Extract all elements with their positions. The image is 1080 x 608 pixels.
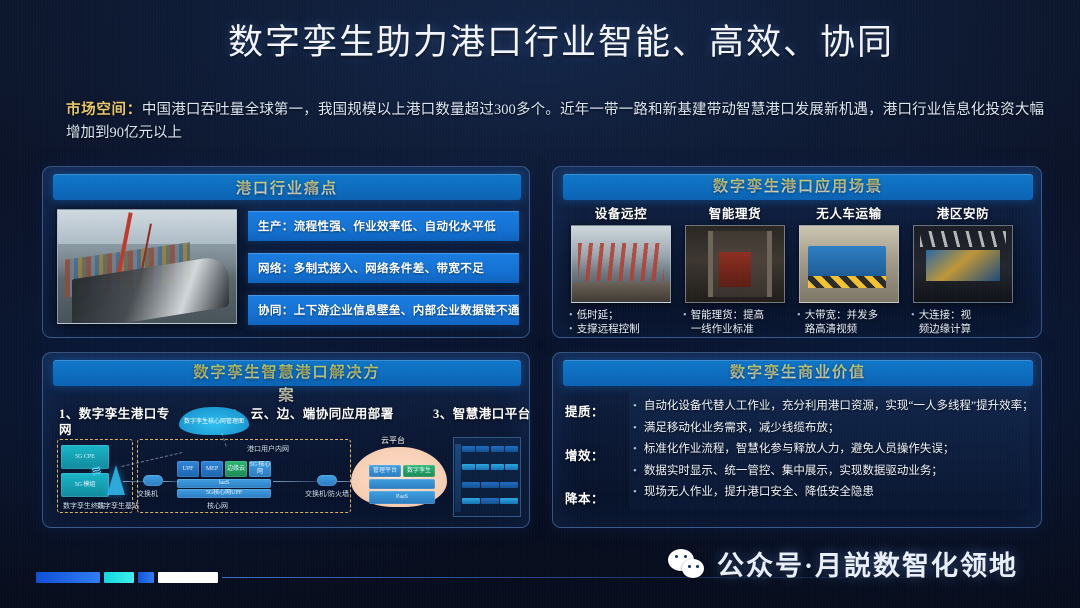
value-item-text-4: 现场无人作业，提升港口安全、降低安全隐患	[644, 482, 874, 504]
bullet-dot-icon: •	[633, 396, 637, 418]
market-space-paragraph: 市场空间：中国港口吞吐量全球第一，我国规模以上港口数量超过300多个。近年一带一…	[66, 99, 1044, 146]
value-item: • 数据实时显示、统一管控、集中展示，实现数据驱动业务；	[633, 461, 1021, 483]
core-tile-upf: UPF	[177, 461, 199, 477]
scene-image-0	[571, 225, 671, 303]
market-space-label: 市场空间：	[66, 102, 142, 118]
cloud-tile-digital-twin: 数字孪生	[403, 465, 435, 477]
panel-value-title: 数字孪生商业价值	[698, 362, 898, 385]
platform-ui-cell	[500, 498, 518, 504]
scene-bullet-text-2-0: 大带宽：并发多	[805, 309, 901, 323]
value-item-text-2: 标准化作业流程，智慧化参与释放人力，避免人员操作失误；	[644, 439, 955, 461]
pain-bar-collaboration-text: 协同：上下游企业信息壁垒、内部企业数据链不通	[258, 302, 520, 318]
platform-ui-sidebar	[455, 444, 461, 512]
core-tile-mep: MEP	[201, 461, 223, 477]
photo-sky	[58, 210, 236, 244]
scene-bullet-text-1-0: 智能理货：提高	[691, 309, 787, 323]
scene-column-remote-control: 设备远控 • 低时延； • 支撑远程控制	[567, 203, 675, 337]
core-tile-edge-cloud-label: 边缘云	[227, 466, 245, 473]
platform-ui-cell	[500, 482, 518, 488]
solution-step-3: 3、智慧港口平台	[433, 407, 530, 423]
panel-value-header: 数字孪生商业价值	[563, 360, 1033, 386]
pain-bar-production-text: 生产：流程性强、作业效率低、自动化水平低	[258, 218, 496, 234]
terminal-tile-cpe: 5G CPE	[61, 445, 109, 469]
terminal-tile-module-label: 5G 模组	[75, 482, 96, 489]
panel-solution-header: 数字孪生智慧港口解决方案	[53, 360, 521, 386]
platform-ui-row-4	[462, 498, 518, 504]
port-terminal-photo	[57, 209, 237, 324]
pain-bar-network: 网络：多制式接入、网络条件差、带宽不足	[248, 253, 519, 283]
panel-scene-title: 数字孪生港口应用场景	[698, 176, 898, 199]
solution-architecture-diagram: 数字孪生核心网管理面 5G CPE 5G 模组 数字孪生终端 ≋ 数字孪生基站 …	[51, 435, 523, 521]
panel-pain-header: 港口行业痛点	[53, 174, 521, 200]
scene-caption-1: 智能理货	[681, 203, 789, 222]
value-item-text-1: 满足移动化业务需求，减少线缆布放；	[644, 418, 840, 440]
scene-bullet-1-0: • 智能理货：提高	[683, 309, 787, 323]
core-network-cloud-icon: 数字孪生核心网管理面	[179, 407, 249, 435]
scene-bullets-3: • 大连接：视 • 频边缘计算	[909, 309, 1017, 337]
pain-bar-production: 生产：流程性强、作业效率低、自动化水平低	[248, 211, 519, 241]
panel-industry-pain-points: 港口行业痛点 生产：流程性强、作业效率低、自动化水平低 网络：多制式接入、网络条…	[42, 166, 530, 338]
value-item: • 满足移动化业务需求，减少线缆布放；	[633, 418, 1021, 440]
cloud-tile-paas-label: PaaS	[396, 494, 408, 501]
wechat-watermark: 公众号·月説数智化领地	[668, 544, 1018, 583]
footer-bar-blue-2	[138, 572, 154, 583]
scene-image-1	[685, 225, 785, 303]
switch-icon	[143, 475, 163, 486]
bullet-dot-icon: •	[633, 461, 637, 483]
scene-bullet-0-1: • 支撑远程控制	[569, 323, 673, 337]
core-network-cloud-label: 数字孪生核心网管理面	[184, 419, 244, 425]
wechat-eye	[684, 555, 687, 558]
panel-solution-title: 数字孪生智慧港口解决方案	[187, 362, 387, 408]
value-label-quality: 提质：	[565, 401, 604, 420]
base-station-label: 数字孪生基站	[97, 501, 139, 511]
scene-bullet-text-2-1: 路高清视频	[805, 323, 901, 337]
scene-bullet-text-0-1: 支撑远程控制	[577, 323, 673, 337]
platform-ui-cell	[481, 498, 499, 504]
bullet-dot-icon: •	[797, 309, 801, 323]
wechat-account-name: 公众号·月説数智化领地	[717, 544, 1018, 583]
footer-bar-cyan	[104, 572, 134, 583]
bullet-dot-icon: •	[633, 439, 637, 461]
value-item: • 标准化作业流程，智慧化参与释放人力，避免人员操作失误；	[633, 439, 1021, 461]
value-label-cost: 降本：	[565, 488, 604, 507]
scene-image-2	[799, 225, 899, 303]
bullet-dot-icon: •	[569, 323, 573, 337]
core-row-5gcore-label: 5G核心网UPF	[206, 490, 242, 497]
wechat-icon	[668, 549, 708, 579]
solution-step-1: 1、数字孪生港口专网	[59, 407, 179, 438]
platform-ui-cell	[476, 464, 489, 470]
cloud-tile-mgmt-label: 管理平台	[373, 468, 397, 475]
firewall-label: 交换机/防火墙	[305, 489, 349, 499]
scene-bullets-2: • 大带宽：并发多 • 路高清视频	[795, 309, 903, 337]
scene-column-unmanned-vehicle: 无人车运输 • 大带宽：并发多 • 路高清视频	[795, 203, 903, 337]
port-intranet-label: 港口用户内网	[247, 444, 289, 454]
scene-column-port-security: 港区安防 • 大连接：视 • 频边缘计算	[909, 203, 1017, 337]
scene-bullet-0-0: • 低时延；	[569, 309, 673, 323]
value-label-efficiency: 增效：	[565, 445, 604, 464]
platform-ui-cell	[462, 464, 475, 470]
panel-scene-header: 数字孪生港口应用场景	[563, 174, 1033, 200]
scene-bullet-2-1: • 路高清视频	[797, 323, 901, 337]
firewall-icon	[317, 475, 337, 486]
core-row-5gcore: 5G核心网UPF	[177, 489, 271, 498]
footer-bar-white	[158, 572, 218, 583]
core-tile-upf-label: UPF	[182, 466, 193, 473]
platform-ui-cell	[481, 482, 499, 488]
core-net-label: 核心网	[207, 501, 228, 511]
bullet-dot-icon: •	[633, 418, 637, 440]
link-core-firewall	[273, 481, 317, 482]
value-item: • 现场无人作业，提升港口安全、降低安全隐患	[633, 482, 1021, 504]
solution-step-2: 2、云、边、端协同应用部署	[231, 407, 421, 423]
cloud-tile-paas: PaaS	[369, 491, 435, 504]
cloud-platform-label: 云平台	[381, 435, 405, 446]
panel-smart-port-solution: 数字孪生智慧港口解决方案 1、数字孪生港口专网 2、云、边、端协同应用部署 3、…	[42, 352, 530, 528]
wechat-bubble-small	[682, 559, 704, 578]
cloud-tile-middle	[369, 479, 435, 489]
scene-image-3	[913, 225, 1013, 303]
page-title: 数字孪生助力港口行业智能、高效、协同	[228, 22, 928, 65]
business-value-list: • 自动化设备代替人工作业，充分利用港口资源，实现“一人多线程”提升效率； • …	[629, 391, 1029, 510]
scene-column-smart-tally: 智能理货 • 智能理货：提高 • 一线作业标准	[681, 203, 789, 337]
core-tile-5gc: 5G 核心网	[249, 461, 271, 477]
scene-caption-3: 港区安防	[909, 203, 1017, 222]
bullet-dot-icon: •	[683, 309, 687, 323]
bullet-dot-icon: •	[569, 309, 573, 323]
wechat-eye	[696, 565, 699, 568]
scene-bullet-2-0: • 大带宽：并发多	[797, 309, 901, 323]
panel-business-value: 数字孪生商业价值 提质： 增效： 降本： • 自动化设备代替人工作业，充分利用港…	[552, 352, 1042, 528]
panel-pain-title: 港口行业痛点	[236, 177, 338, 198]
platform-ui-row-3	[462, 482, 518, 488]
pain-bar-network-text: 网络：多制式接入、网络条件差、带宽不足	[258, 260, 484, 276]
platform-ui-row-2	[462, 464, 518, 470]
panel-application-scenes: 数字孪生港口应用场景 设备远控 • 低时延； • 支撑远程控制 智能理货	[552, 166, 1042, 338]
scene-bullet-text-1-1: 一线作业标准	[691, 323, 787, 337]
slide-header: 数字孪生助力港口行业智能、高效、协同 市场空间：中国港口吞吐量全球第一，我国规模…	[0, 0, 1080, 152]
scene-bullet-1-1: • 一线作业标准	[683, 323, 787, 337]
scene-bullets-1: • 智能理货：提高 • 一线作业标准	[681, 309, 789, 337]
scene-caption-0: 设备远控	[567, 203, 675, 222]
core-row-iaas: laaS	[177, 479, 271, 488]
scene-bullet-3-0: • 大连接：视	[911, 309, 1015, 323]
terminal-tile-cpe-label: 5G CPE	[75, 454, 95, 461]
cloud-tile-digital-twin-label: 数字孪生	[407, 468, 431, 475]
scene-caption-2: 无人车运输	[795, 203, 903, 222]
value-item-text-3: 数据实时显示、统一管控、集中展示，实现数据驱动业务；	[644, 461, 943, 483]
pain-bar-collaboration: 协同：上下游企业信息壁垒、内部企业数据链不通	[248, 295, 519, 325]
core-tile-5gc-label: 5G 核心网	[249, 462, 271, 475]
core-tile-mep-label: MEP	[206, 466, 218, 473]
base-station-icon	[107, 465, 125, 495]
core-row-iaas-label: laaS	[219, 480, 229, 487]
platform-ui-cell	[462, 446, 475, 452]
value-item: • 自动化设备代替人工作业，充分利用港口资源，实现“一人多线程”提升效率；	[633, 396, 1021, 418]
platform-ui-cell	[462, 482, 480, 488]
business-value-content: 提质： 增效： 降本： • 自动化设备代替人工作业，充分利用港口资源，实现“一人…	[561, 391, 1035, 523]
link-station-switch	[123, 481, 145, 482]
platform-ui-cell	[491, 464, 504, 470]
wechat-eye	[688, 565, 691, 568]
platform-ui-cell	[505, 446, 518, 452]
market-space-body: 中国港口吞吐量全球第一，我国规模以上港口数量超过300多个。近年一带一路和新基建…	[66, 102, 1044, 141]
scene-bullet-text-3-0: 大连接：视	[919, 309, 1015, 323]
slide-canvas: 数字孪生助力港口行业智能、高效、协同 市场空间：中国港口吞吐量全球第一，我国规模…	[0, 0, 1080, 608]
link-switch-core	[163, 481, 179, 482]
scene-bullet-3-1: • 频边缘计算	[911, 323, 1015, 337]
platform-ui-cell	[476, 446, 489, 452]
cloud-tile-mgmt: 管理平台	[369, 465, 401, 477]
scene-bullet-text-3-1: 频边缘计算	[919, 323, 1015, 337]
core-tile-edge-cloud: 边缘云	[225, 461, 247, 477]
switch-label: 交换机	[137, 489, 158, 499]
wechat-eye	[675, 555, 678, 558]
bullet-dot-icon: •	[633, 482, 637, 504]
scene-bullet-text-0-0: 低时延；	[577, 309, 673, 323]
platform-ui-cell	[491, 446, 504, 452]
platform-ui-cell	[505, 464, 518, 470]
platform-ui-row-1	[462, 446, 518, 452]
bullet-dot-icon: •	[911, 309, 915, 323]
scene-bullets-0: • 低时延； • 支撑远程控制	[567, 309, 675, 337]
platform-ui-cell	[462, 498, 480, 504]
smart-port-platform-ui	[453, 437, 521, 517]
footer-bar-blue-1	[36, 572, 100, 583]
value-item-text-0: 自动化设备代替人工作业，充分利用港口资源，实现“一人多线程”提升效率；	[644, 396, 1034, 418]
